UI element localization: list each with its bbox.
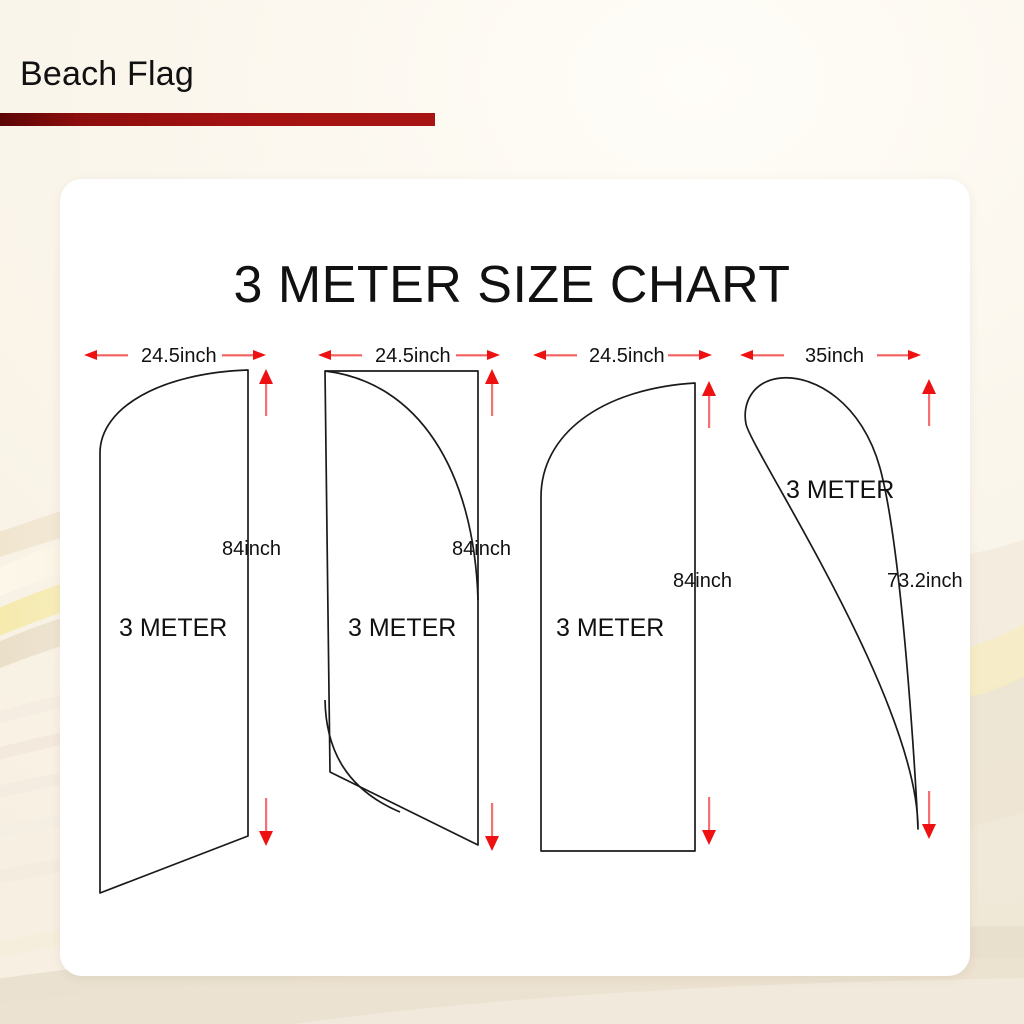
flag-2-height-label: 84inch xyxy=(452,538,511,561)
height-arrow-up-1 xyxy=(259,369,273,384)
height-arrow-up-3 xyxy=(702,381,716,396)
flag-3-body-label: 3 METER xyxy=(556,614,664,643)
height-arrow-down-3 xyxy=(702,830,716,845)
width-arrow-left-2 xyxy=(318,350,331,360)
flag-shape-4 xyxy=(745,378,918,829)
width-arrow-right-4 xyxy=(908,350,921,360)
height-arrow-down-2 xyxy=(485,836,499,851)
flag-2-width-label: 24.5inch xyxy=(375,345,451,368)
height-arrow-up-4 xyxy=(922,379,936,394)
height-arrow-up-2 xyxy=(485,369,499,384)
flag-shape-2-tail-curve xyxy=(325,700,400,812)
flag-4-width-label: 35inch xyxy=(805,345,864,368)
flag-4-height-label: 73.2inch xyxy=(887,570,963,593)
flag-3-height-label: 84inch xyxy=(673,570,732,593)
height-arrow-down-4 xyxy=(922,824,936,839)
width-arrow-right-2 xyxy=(487,350,500,360)
flag-1-height-label: 84inch xyxy=(222,538,281,561)
flag-1-body-label: 3 METER xyxy=(119,614,227,643)
flag-shape-2-top-curve xyxy=(325,371,478,600)
flag-4-body-label: 3 METER xyxy=(786,476,894,505)
flag-3-width-label: 24.5inch xyxy=(589,345,665,368)
slide-canvas: Beach Flag 3 METER SIZE CHART xyxy=(0,0,1024,1024)
flag-1-width-label: 24.5inch xyxy=(141,345,217,368)
width-arrow-left-3 xyxy=(533,350,546,360)
width-arrow-left-1 xyxy=(84,350,97,360)
flag-2-body-label: 3 METER xyxy=(348,614,456,643)
size-chart-drawing xyxy=(0,0,1024,1024)
width-arrow-right-1 xyxy=(253,350,266,360)
height-arrow-down-1 xyxy=(259,831,273,846)
width-arrow-left-4 xyxy=(740,350,753,360)
width-arrow-right-3 xyxy=(699,350,712,360)
